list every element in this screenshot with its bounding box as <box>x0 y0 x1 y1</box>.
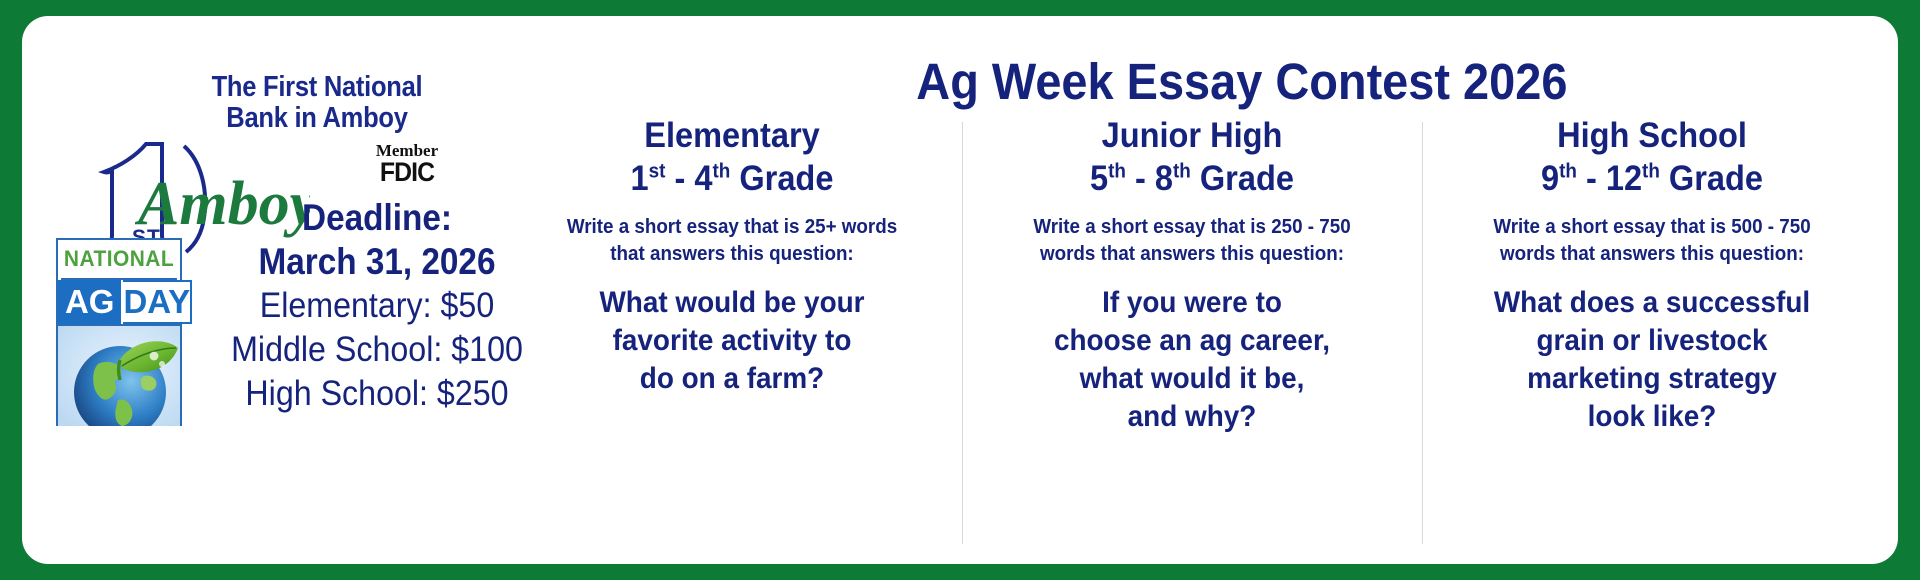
bank-name: The First National Bank in Amboy <box>181 72 454 134</box>
category-high-school-question-line4: look like? <box>1447 398 1856 436</box>
bank-name-line2: Bank in Amboy <box>181 103 454 134</box>
category-high-school-grade-from-sup: th <box>1559 160 1577 182</box>
page-title-text: Ag Week Essay Contest 2026 <box>916 54 1567 110</box>
category-junior-high-question-line4: and why? <box>987 398 1396 436</box>
category-high-school-grade-word: Grade <box>1660 159 1763 198</box>
category-high-school-grade-dash: - <box>1577 159 1606 198</box>
category-high-school-question-line1: What does a successful <box>1447 284 1856 322</box>
page-title: Ag Week Essay Contest 2026 <box>602 54 1882 110</box>
category-junior-high-grade-to-sup: th <box>1173 160 1191 182</box>
category-elementary-desc-line1: Write a short essay that is 25+ words <box>525 214 939 241</box>
category-elementary-question: What would be your favorite activity to … <box>527 284 936 398</box>
category-junior-high-grade-dash: - <box>1126 159 1155 198</box>
category-elementary-question-line1: What would be your <box>527 284 936 322</box>
category-elementary-question-line3: do on a farm? <box>527 360 936 398</box>
poster-card: The First National Bank in Amboy ST Ambo… <box>22 16 1898 564</box>
category-elementary-grade-to: 4 <box>694 159 712 198</box>
category-junior-high-name: Junior High <box>1102 116 1283 155</box>
deadline-block: Deadline: March 31, 2026 Elementary: $50… <box>212 196 542 416</box>
category-elementary-name: Elementary <box>644 116 820 155</box>
category-elementary-heading: Elementary 1st - 4th Grade <box>527 114 936 200</box>
category-elementary-grade-from-sup: st <box>649 160 666 182</box>
category-high-school-description: Write a short essay that is 500 - 750 wo… <box>1445 214 1859 268</box>
category-junior-high-question-line3: what would it be, <box>987 360 1396 398</box>
category-junior-high-desc-line1: Write a short essay that is 250 - 750 <box>985 214 1399 241</box>
category-junior-high-question-line1: If you were to <box>987 284 1396 322</box>
category-high-school-grade-from: 9 <box>1541 159 1559 198</box>
category-junior-high-question-line2: choose an ag career, <box>987 322 1396 360</box>
agday-day-label: DAY <box>123 280 192 324</box>
category-junior-high-grade-word: Grade <box>1191 159 1294 198</box>
category-junior-high-grade-from-sup: th <box>1108 160 1126 182</box>
category-junior-high-grade-to: 8 <box>1155 159 1173 198</box>
category-high-school-desc-line1: Write a short essay that is 500 - 750 <box>1445 214 1859 241</box>
category-elementary-grade-to-sup: th <box>712 160 730 182</box>
agday-globe-icon: ™ <box>58 326 180 426</box>
category-elementary-question-line2: favorite activity to <box>527 322 936 360</box>
category-elementary: Elementary 1st - 4th Grade Write a short… <box>502 114 962 544</box>
deadline-heading: Deadline: <box>229 196 526 240</box>
prize-middle-school: Middle School: $100 <box>225 328 529 372</box>
prize-elementary: Elementary: $50 <box>225 284 529 328</box>
contest-categories: Elementary 1st - 4th Grade Write a short… <box>502 114 1882 544</box>
category-elementary-description: Write a short essay that is 25+ words th… <box>525 214 939 268</box>
category-high-school-question-line3: marketing strategy <box>1447 360 1856 398</box>
agday-national-label: NATIONAL <box>61 240 177 280</box>
category-elementary-grade-dash: - <box>665 159 694 198</box>
category-high-school: High School 9th - 12th Grade Write a sho… <box>1422 114 1882 544</box>
category-elementary-grade-word: Grade <box>730 159 833 198</box>
category-junior-high-desc-line2: words that answers this question: <box>985 241 1399 268</box>
category-high-school-question-line2: grain or livestock <box>1447 322 1856 360</box>
agday-agday-row: AG DAY <box>58 280 180 326</box>
category-elementary-desc-line2: that answers this question: <box>525 241 939 268</box>
category-junior-high: Junior High 5th - 8th Grade Write a shor… <box>962 114 1422 544</box>
category-high-school-heading: High School 9th - 12th Grade <box>1447 114 1856 200</box>
deadline-date: March 31, 2026 <box>229 240 526 284</box>
prize-high-school: High School: $250 <box>225 372 529 416</box>
member-fdic-logo: Member FDIC <box>362 142 452 186</box>
category-junior-high-question: If you were to choose an ag career, what… <box>987 284 1396 436</box>
category-high-school-name: High School <box>1557 116 1747 155</box>
column-divider-right <box>1422 122 1423 544</box>
agday-ag-label: AG <box>58 280 123 324</box>
bank-name-line1: The First National <box>181 72 454 103</box>
national-ag-day-logo: NATIONAL AG DAY <box>56 238 182 426</box>
fdic-label: FDIC <box>366 159 449 186</box>
category-elementary-grade-from: 1 <box>631 159 649 198</box>
category-high-school-question: What does a successful grain or livestoc… <box>1447 284 1856 436</box>
category-junior-high-description: Write a short essay that is 250 - 750 wo… <box>985 214 1399 268</box>
category-junior-high-grade-from: 5 <box>1090 159 1108 198</box>
category-high-school-grade-to-sup: th <box>1642 160 1660 182</box>
category-junior-high-heading: Junior High 5th - 8th Grade <box>987 114 1396 200</box>
column-divider-left <box>962 122 963 544</box>
category-high-school-desc-line2: words that answers this question: <box>1445 241 1859 268</box>
category-high-school-grade-to: 12 <box>1606 159 1642 198</box>
